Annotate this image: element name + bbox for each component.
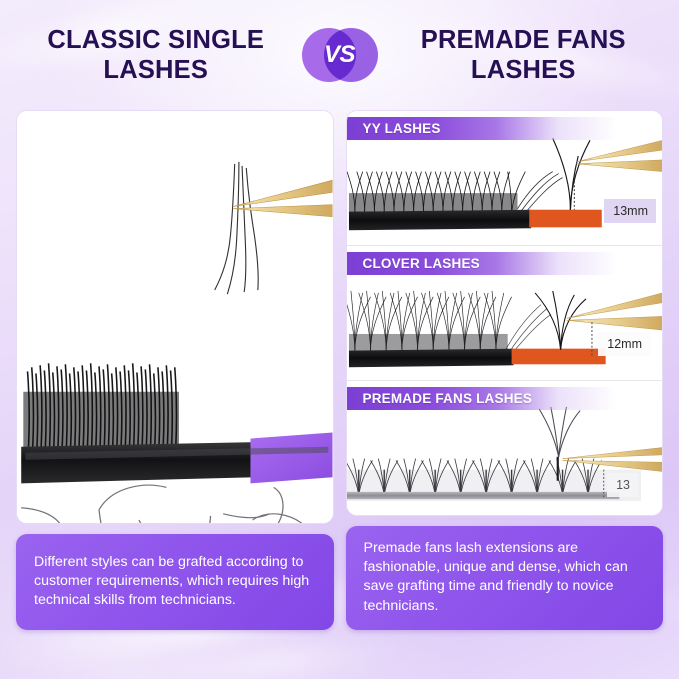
panel-label-premade-fans-lashes: PREMADE FANS LASHES — [347, 387, 618, 410]
tray-purple-tab — [250, 432, 332, 483]
left-heading: CLASSIC SINGLE LASHES — [16, 25, 302, 85]
right-column: YY LASHES — [346, 110, 664, 630]
classic-single-lashes-illustration — [17, 111, 333, 523]
panel-clover-lashes: CLOVER LASHES — [347, 246, 663, 381]
panel-label-clover-lashes: CLOVER LASHES — [347, 252, 618, 275]
vs-badge: VS — [302, 28, 378, 82]
measurement-13mm: 13mm — [604, 199, 656, 223]
header: CLASSIC SINGLE LASHES VS PREMADE FANS LA… — [0, 0, 679, 110]
left-caption: Different styles can be grafted accordin… — [16, 534, 334, 630]
right-heading: PREMADE FANS LASHES — [378, 25, 664, 85]
measurement-12mm: 12mm — [598, 332, 650, 356]
left-column: Different styles can be grafted accordin… — [16, 110, 334, 630]
panel-premade-fans-lashes: PREMADE FANS LASHES — [347, 381, 663, 515]
measurement-13: 13 — [607, 473, 638, 497]
panel-label-yy-lashes: YY LASHES — [347, 117, 618, 140]
vs-label: VS — [324, 41, 355, 69]
classic-lashes-card — [16, 110, 334, 524]
panel-yy-lashes: YY LASHES — [347, 111, 663, 246]
right-caption: Premade fans lash extensions are fashion… — [346, 526, 664, 630]
background-swoosh — [149, 638, 400, 679]
comparison-columns: Different styles can be grafted accordin… — [0, 110, 679, 630]
premade-fans-card: YY LASHES — [346, 110, 664, 516]
comparison-infographic: CLASSIC SINGLE LASHES VS PREMADE FANS LA… — [0, 0, 679, 679]
